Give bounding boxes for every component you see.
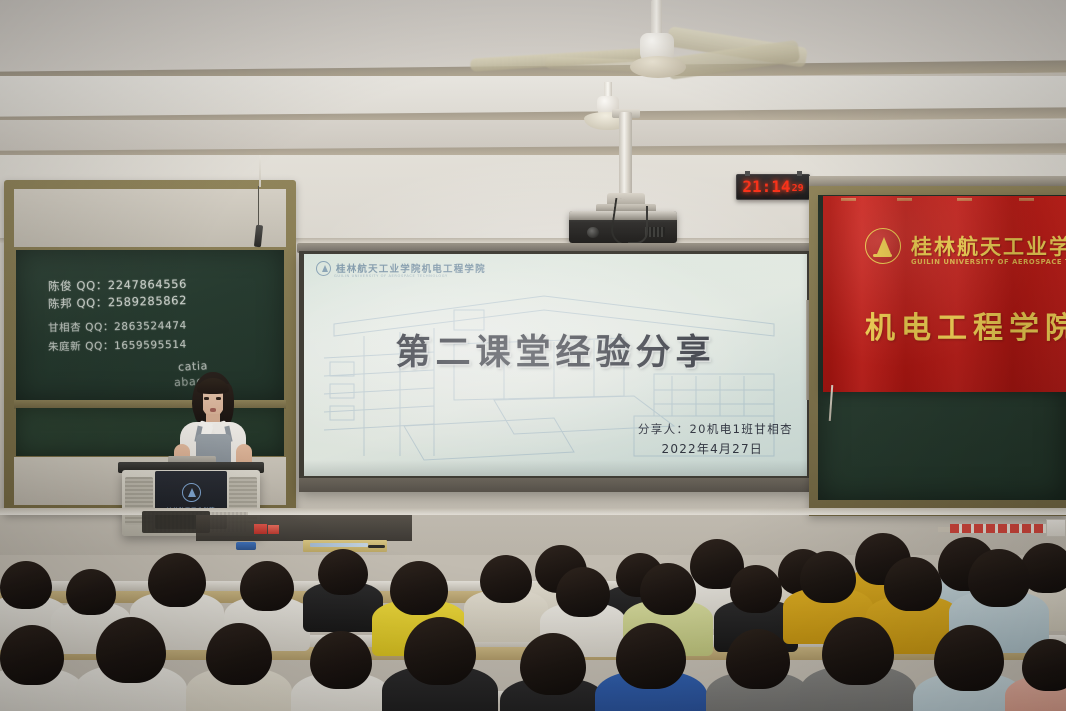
chalk-line-3: 甘相杏 QQ：2863524474 xyxy=(48,318,187,336)
banner-pin xyxy=(1019,198,1034,201)
slide-presenter: 分享人：20机电1班甘相杏 xyxy=(638,421,793,437)
audience-member-head xyxy=(240,561,294,611)
slide-title: 第二课堂经验分享 xyxy=(304,324,807,375)
audience-member-head xyxy=(968,549,1030,607)
audience-member-head xyxy=(800,551,856,603)
audience-member-head xyxy=(822,617,894,685)
audience-member-head xyxy=(556,567,610,617)
projector-cable xyxy=(628,206,648,244)
audience-member-head xyxy=(884,557,942,611)
audience-member-head xyxy=(390,561,448,615)
banner-pin xyxy=(957,198,972,201)
led-wall-clock: 21:14 29 xyxy=(736,174,810,200)
slide-header-text: 桂林航天工业学院机电工程学院 xyxy=(336,261,486,275)
presenter-eye-left xyxy=(204,397,209,400)
presentation-slide: 桂林航天工业学院机电工程学院 GUILIN UNIVERSITY OF AERO… xyxy=(304,254,807,476)
projector-vent xyxy=(645,227,665,237)
clock-time: 21:14 xyxy=(742,179,790,195)
university-crest-icon xyxy=(316,261,331,276)
lecture-hall-photo: 21:14 29 陈俊 QQ：2247864556 陈邦 QQ：25892858… xyxy=(0,0,1066,711)
audience-member-head xyxy=(206,623,272,685)
audience-member-head xyxy=(934,625,1004,691)
audience-member-head xyxy=(148,553,206,607)
slide-header-subtext: GUILIN UNIVERSITY OF AEROSPACE TECHNOLOG… xyxy=(334,274,448,278)
audience-seating: umb xyxy=(0,505,1066,711)
audience-member-head xyxy=(0,625,64,685)
banner-pin xyxy=(897,198,912,201)
university-crest-icon xyxy=(182,483,201,502)
red-event-banner: 桂林航天工业学院 GUILIN UNIVERSITY OF AEROSPACE … xyxy=(823,196,1066,392)
slide-date: 2022年4月27日 xyxy=(662,440,763,457)
audience-member-head xyxy=(310,631,372,689)
audience-member-head xyxy=(480,555,532,603)
clock-hanger-tabs xyxy=(745,171,803,175)
banner-university-name-en: GUILIN UNIVERSITY OF AEROSPACE TECHNOLOG… xyxy=(911,258,1066,266)
chalk-line-4: 朱庭新 QQ：1659595514 xyxy=(48,337,187,355)
hanging-cord-lower xyxy=(258,186,259,228)
presenter-mouth xyxy=(210,408,216,412)
audience-member-head xyxy=(730,565,782,613)
university-crest-icon xyxy=(865,228,901,264)
banner-university-name-cn: 桂林航天工业学院 xyxy=(911,231,1066,261)
audience-member-head xyxy=(726,629,790,689)
projection-screen-bottom-bar xyxy=(299,478,812,492)
audience-member-head xyxy=(0,561,52,609)
ceiling-fan-hub xyxy=(630,56,686,78)
slide-footer-shadow xyxy=(304,460,807,476)
presenter-eye-right xyxy=(216,397,221,400)
audience-member-head xyxy=(404,617,476,685)
audience-member-head xyxy=(640,563,696,615)
audience-member-head xyxy=(520,633,586,695)
projector-mount-pole xyxy=(619,112,632,200)
blackboard-upper-panel xyxy=(14,189,286,247)
clock-seconds: 29 xyxy=(792,183,804,194)
projection-screen: 桂林航天工业学院机电工程学院 GUILIN UNIVERSITY OF AERO… xyxy=(299,251,812,492)
banner-pin xyxy=(841,198,856,201)
banner-department-name: 机电工程学院 xyxy=(865,303,1066,347)
hanging-cord xyxy=(259,155,261,187)
audience-member-head xyxy=(66,569,116,615)
audience-member-head xyxy=(318,549,368,595)
projector-lens-icon xyxy=(587,227,599,238)
audience-member-head xyxy=(96,617,166,683)
audience-member-head xyxy=(616,623,686,689)
chalk-line-1: 陈俊 QQ：2247864556 xyxy=(48,276,187,295)
